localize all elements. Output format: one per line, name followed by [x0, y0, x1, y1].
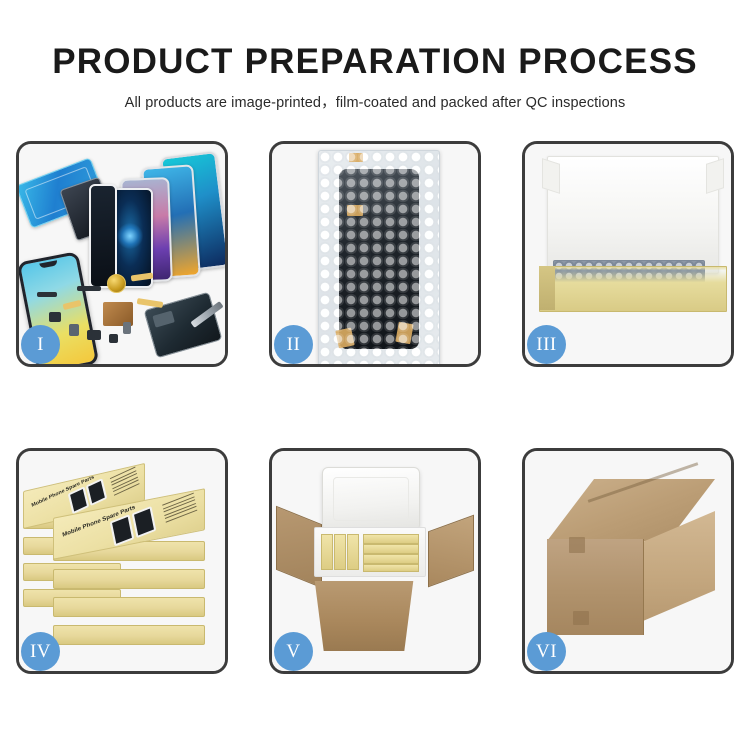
step-badge-5: V [274, 632, 313, 671]
process-step-panel-5[interactable]: V [269, 448, 481, 674]
stacked-box [53, 597, 205, 617]
packed-yellow-box [363, 554, 419, 564]
process-step-panel-4[interactable]: Mobile Phone Spare Parts Mobile Phone Sp… [16, 448, 228, 674]
stacked-box [53, 625, 205, 645]
process-step-panel-3[interactable]: III [522, 141, 734, 367]
speaker-coil-icon [107, 274, 126, 293]
packed-yellow-box [363, 564, 419, 572]
packed-yellow-box [363, 544, 419, 554]
box-label-spec-lines [110, 467, 140, 499]
page-header: PRODUCT PREPARATION PROCESS All products… [0, 0, 750, 125]
component-chip-icon [49, 312, 61, 322]
wrapped-lcd-screen-icon [339, 169, 419, 349]
step-badge-2: II [274, 325, 313, 364]
component-chip-icon [109, 334, 118, 343]
box-stack: Mobile Phone Spare Parts Mobile Phone Sp… [23, 469, 223, 661]
page-title: PRODUCT PREPARATION PROCESS [0, 0, 750, 81]
yellow-inner-box-icon [539, 266, 727, 312]
wrapped-flex-cable-icon [355, 211, 371, 339]
tape-piece-icon [347, 205, 363, 216]
box-label-screen-image [110, 514, 135, 546]
process-step-panel-2[interactable]: II [269, 141, 481, 367]
yellow-box-side-face [539, 266, 555, 310]
styrofoam-lid-icon [322, 467, 420, 531]
carton-front-face-icon [547, 539, 644, 635]
box-label-spec-lines [162, 493, 198, 526]
tape-piece-icon [349, 153, 363, 162]
process-step-grid: I II III [16, 141, 734, 674]
packed-yellow-box [334, 534, 346, 570]
component-chip-icon [69, 324, 79, 336]
flex-cable-icon [137, 298, 164, 308]
process-step-panel-1[interactable]: I [16, 141, 228, 367]
page-subtitle: All products are image-printed，film-coat… [0, 81, 750, 112]
white-box-lid-icon [547, 156, 719, 274]
component-chip-icon [87, 330, 101, 340]
process-step-panel-6[interactable]: VI [522, 448, 734, 674]
bubble-wrap-bag-icon [318, 150, 440, 364]
shipping-carton-body-icon [308, 581, 420, 651]
component-bar-icon [77, 286, 101, 291]
packed-yellow-box [347, 534, 359, 570]
component-bar-icon [37, 292, 57, 297]
step-badge-4: IV [21, 632, 60, 671]
carton-handle-tab-icon [569, 537, 585, 553]
stacked-box [53, 569, 205, 589]
packed-yellow-box [321, 534, 333, 570]
packed-yellow-box [363, 534, 419, 544]
carton-flap-right-icon [428, 515, 474, 588]
step-badge-6: VI [527, 632, 566, 671]
styrofoam-tray-icon [314, 527, 426, 577]
step-badge-3: III [527, 325, 566, 364]
component-chip-icon [123, 322, 131, 334]
box-label-screen-image [132, 506, 157, 538]
phone-glass-panel-icon [89, 184, 117, 288]
carton-handle-tab-icon [573, 611, 589, 625]
tape-piece-icon [335, 328, 354, 349]
step-badge-1: I [21, 325, 60, 364]
